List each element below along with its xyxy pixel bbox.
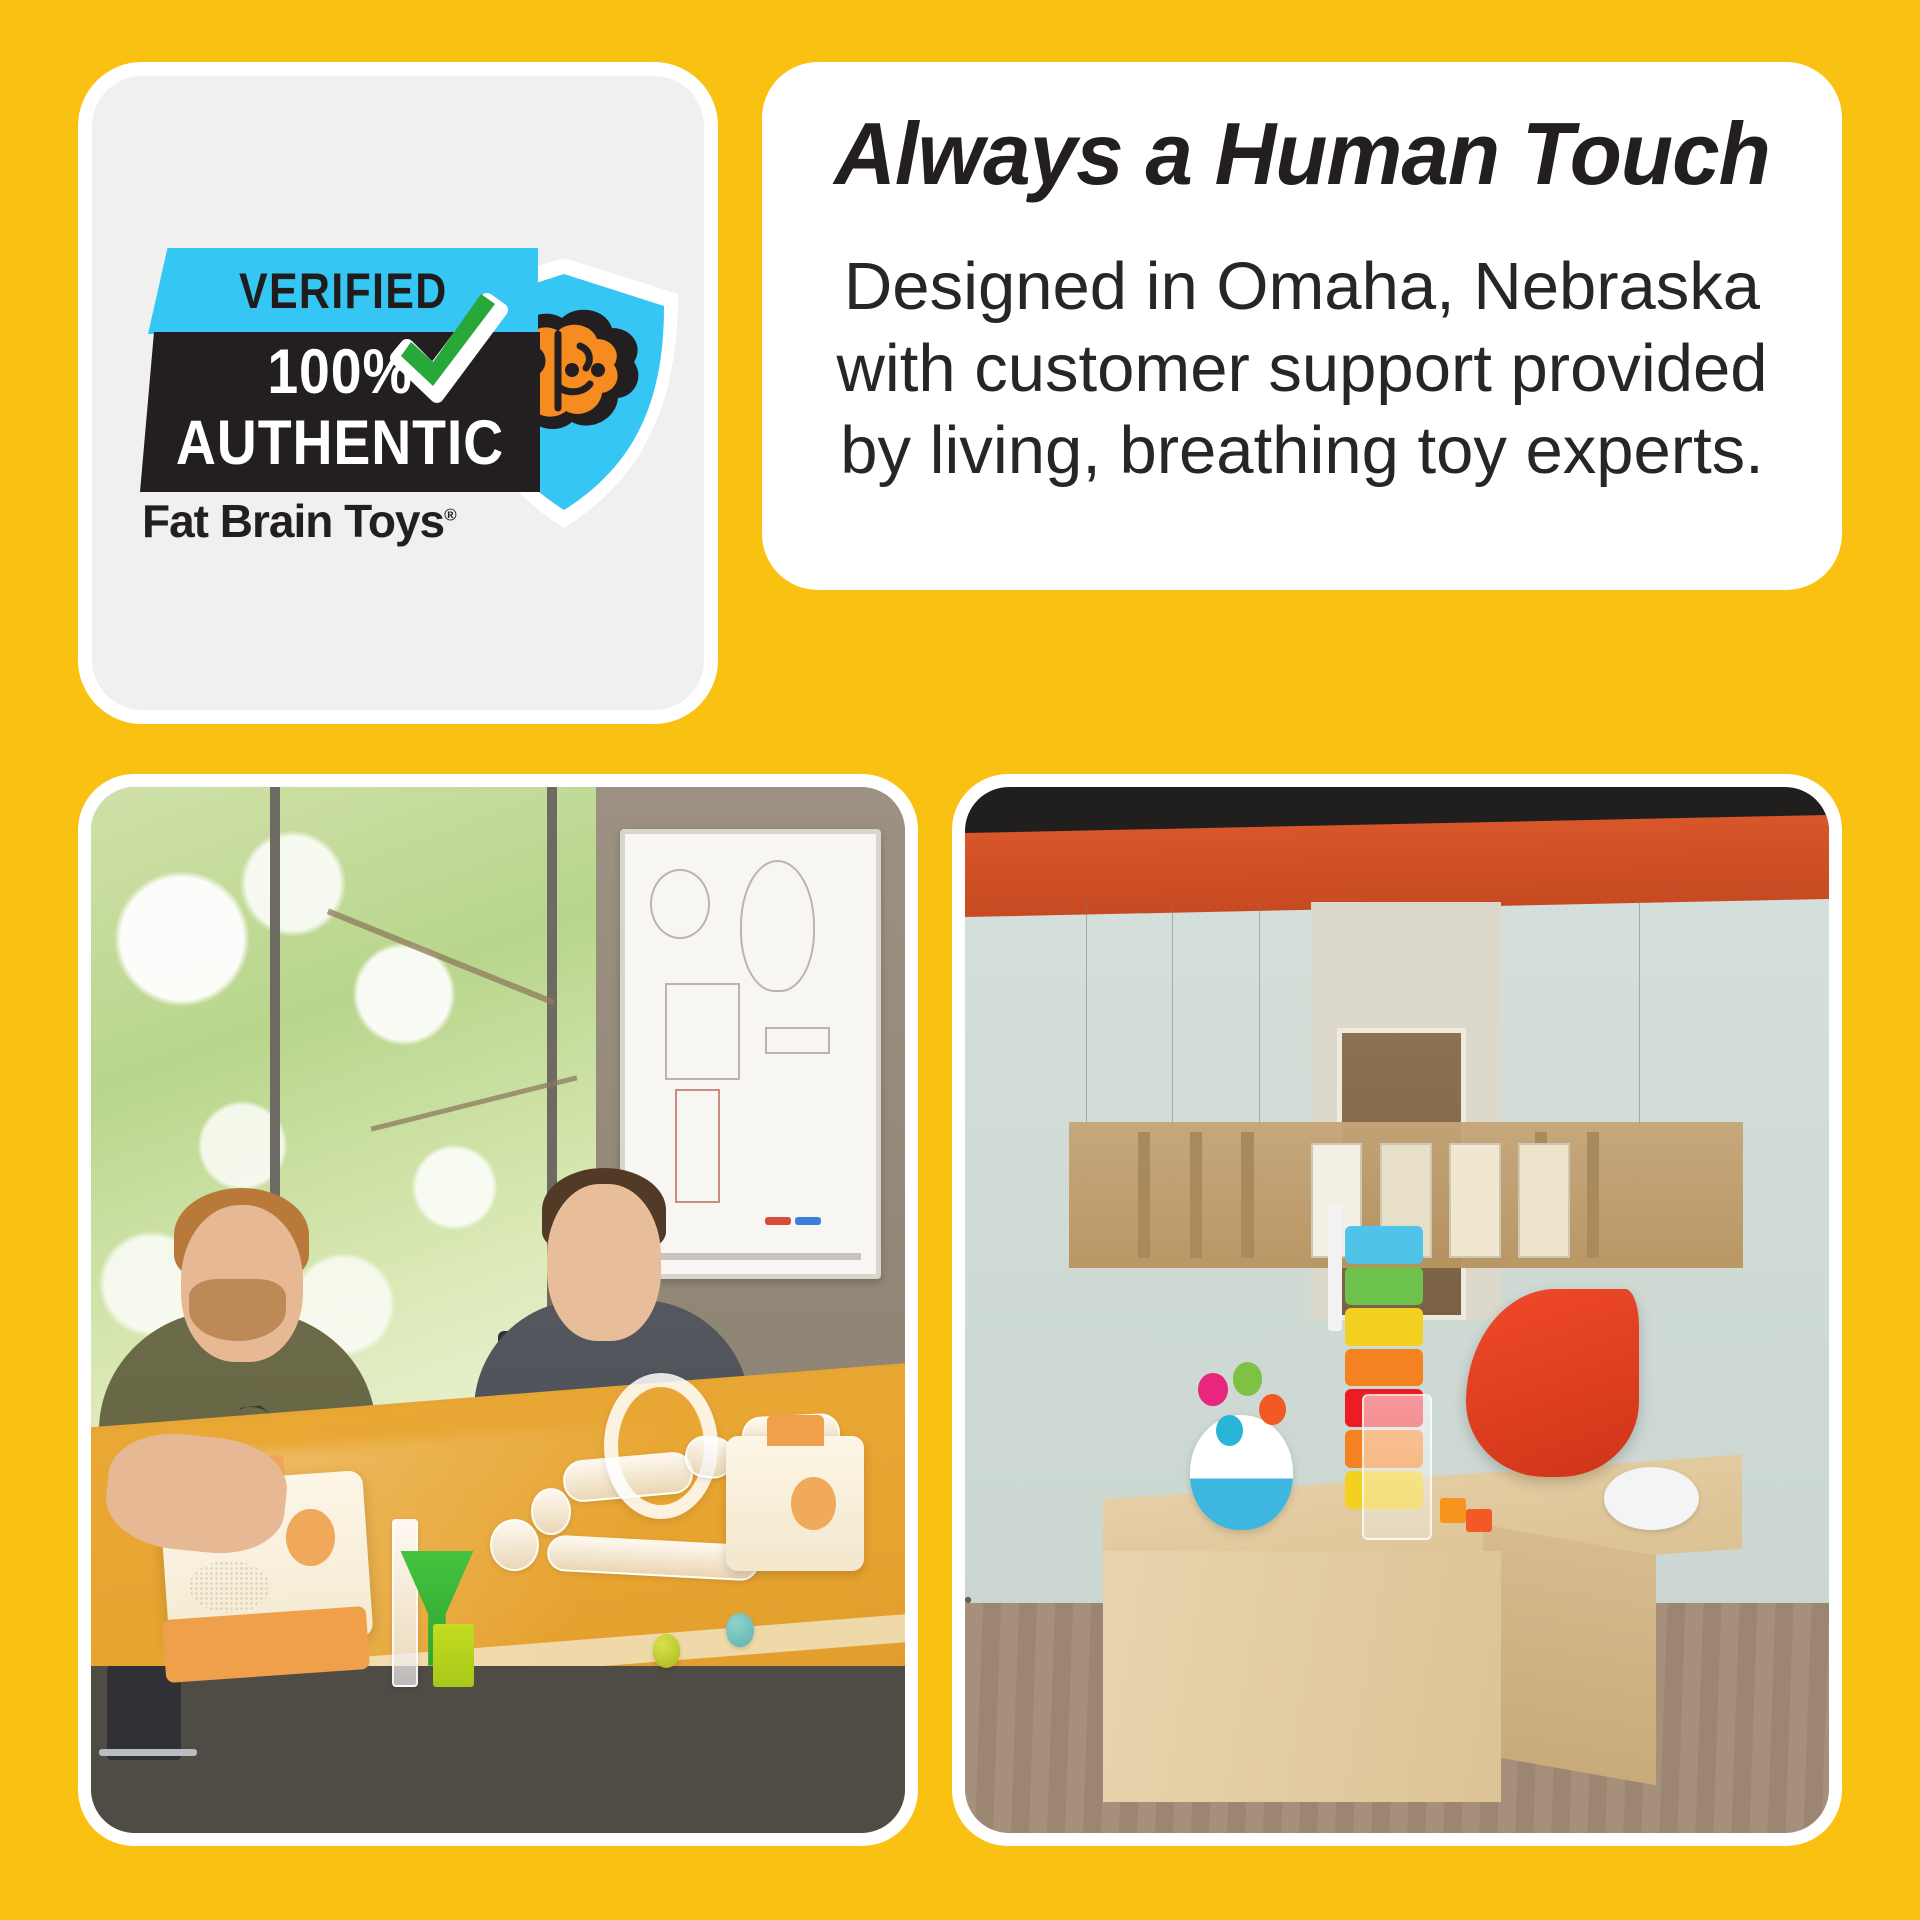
yellow-ball <box>653 1634 681 1667</box>
verified-authentic-badge: VERIFIED 100% AUTHENTIC Fat Brain Toys® <box>118 248 678 538</box>
authentic-label: AUTHENTIC <box>164 407 516 479</box>
person-right-head <box>547 1184 661 1341</box>
message-card: Always a Human Touch Designed in Omaha, … <box>762 62 1842 590</box>
authenticity-badge-card: VERIFIED 100% AUTHENTIC Fat Brain Toys® <box>78 62 718 724</box>
block-jar-toy <box>1362 1394 1431 1540</box>
check-mark-icon <box>383 284 513 414</box>
glasses-4 <box>965 1597 971 1603</box>
top-cards-row: VERIFIED 100% AUTHENTIC Fat Brain Toys® … <box>0 0 1920 640</box>
body-text: Designed in Omaha, Nebraska with custome… <box>818 246 1786 492</box>
brand-name: Fat Brain Toys <box>142 495 444 547</box>
white-flower-toy <box>1604 1467 1699 1530</box>
brand-trademark: ® <box>444 506 456 525</box>
headline: Always a Human Touch <box>833 106 1772 202</box>
product-design-photo <box>78 774 918 1846</box>
teal-ball <box>726 1613 754 1646</box>
customer-support-team-photo <box>952 774 1842 1846</box>
brand-wordmark: Fat Brain Toys® <box>142 494 542 548</box>
